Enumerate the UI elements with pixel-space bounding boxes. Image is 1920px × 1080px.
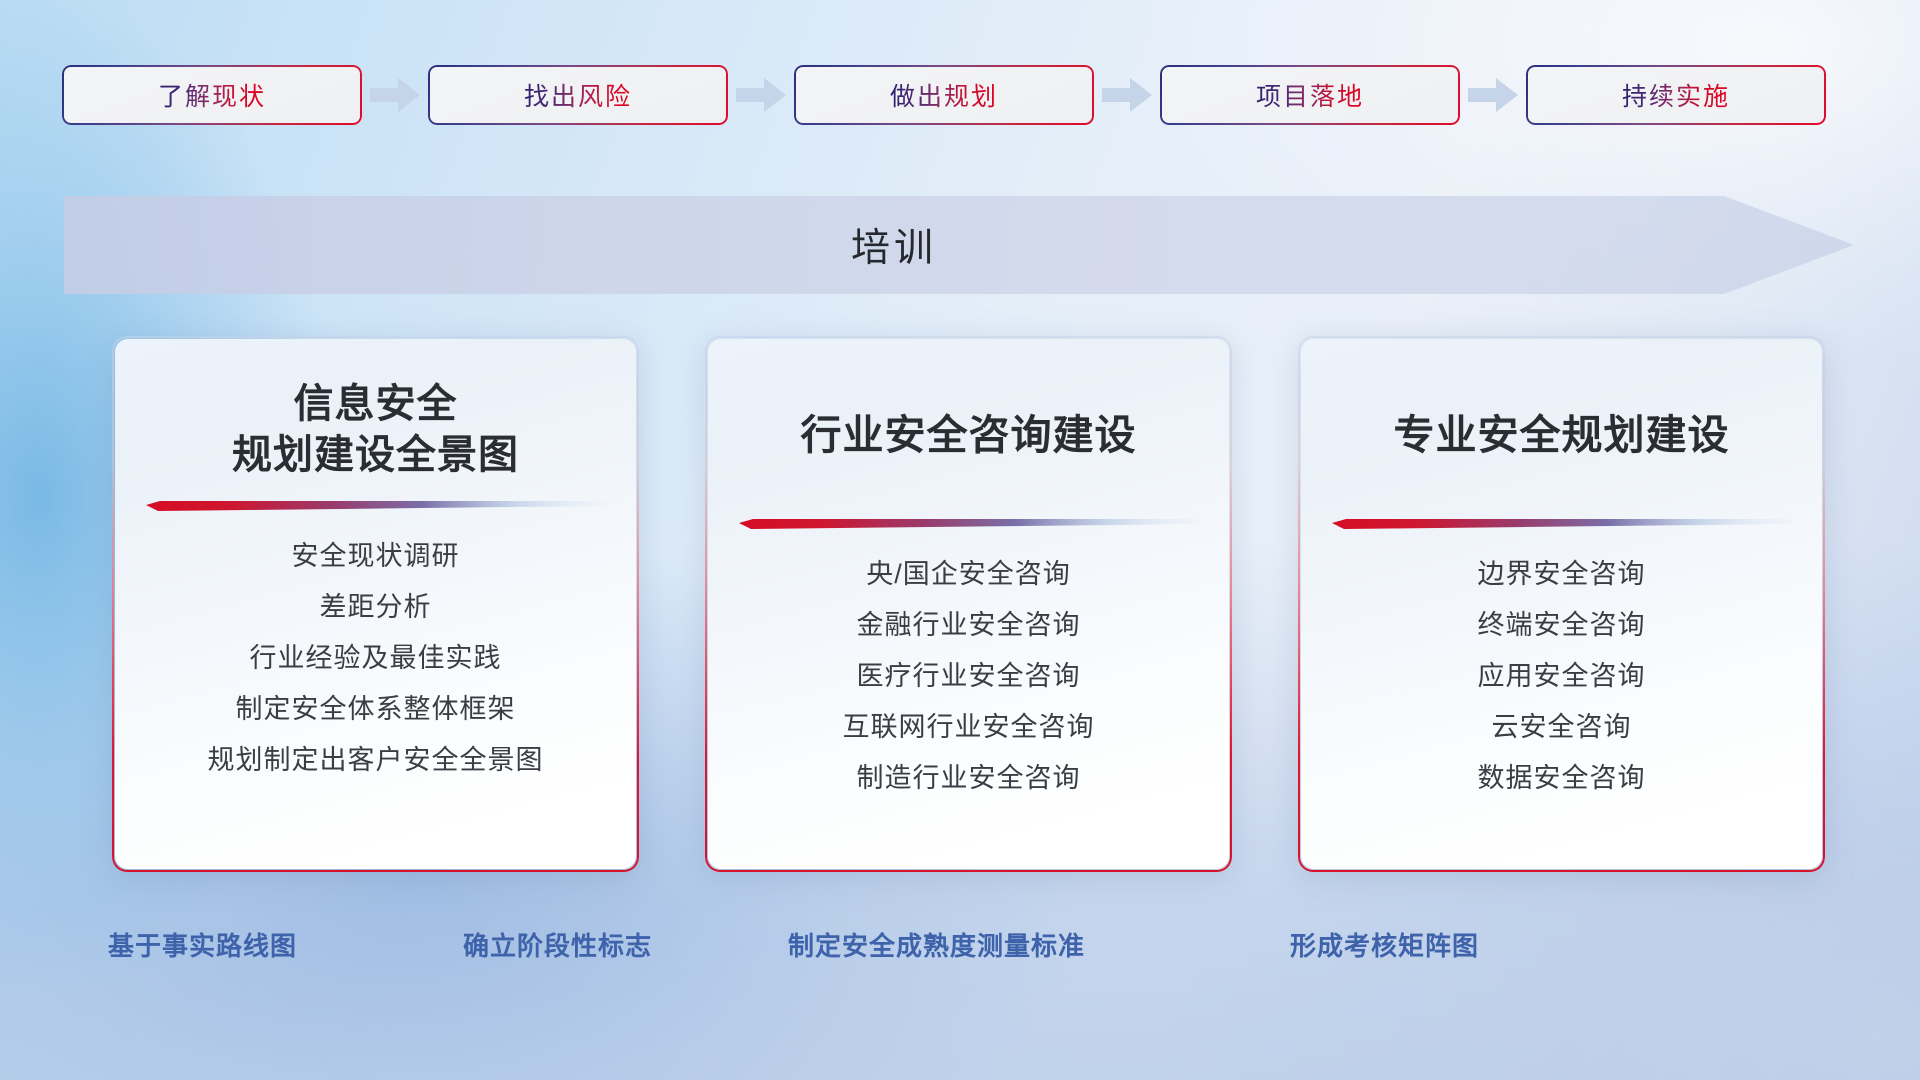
card-industry-consulting-list: 央/国企安全咨询 金融行业安全咨询 医疗行业安全咨询 互联网行业安全咨询 制造行… [708, 554, 1229, 799]
footnote-row: 基于事实路线图 确立阶段性标志 制定安全成熟度测量标准 形成考核矩阵图 [0, 926, 1920, 970]
list-item: 金融行业安全咨询 [857, 605, 1081, 647]
card-industry-consulting-divider [739, 519, 1199, 530]
list-item: 行业经验及最佳实践 [250, 638, 502, 680]
card-panorama[interactable]: 信息安全 规划建设全景图 [112, 336, 639, 872]
process-step-row: 了解现状 找出风险 做出规划 项目落地 持续实施 [0, 64, 1920, 126]
arrow-right-icon [728, 65, 794, 125]
list-item: 终端安全咨询 [1478, 605, 1646, 647]
card-professional-planning-title: 专业安全规划建设 [1301, 409, 1822, 461]
card-panorama-title-line2: 规划建设全景图 [115, 430, 636, 481]
footnote-maturity: 制定安全成熟度测量标准 [788, 926, 1085, 963]
list-item: 规划制定出客户安全全景图 [208, 740, 544, 782]
list-item: 制造行业安全咨询 [857, 758, 1081, 800]
process-step-5[interactable]: 持续实施 [1526, 65, 1826, 125]
process-step-4[interactable]: 项目落地 [1160, 65, 1460, 125]
arrow-right-icon [1460, 65, 1526, 125]
process-step-2[interactable]: 找出风险 [428, 65, 728, 125]
arrow-right-icon [1094, 65, 1160, 125]
card-industry-consulting-body: 行业安全咨询建设 [708, 339, 1229, 869]
card-panorama-list: 安全现状调研 差距分析 行业经验及最佳实践 制定安全体系整体框架 规划制定出客户… [115, 536, 636, 781]
card-row: 信息安全 规划建设全景图 [0, 336, 1920, 876]
list-item: 云安全咨询 [1492, 707, 1632, 749]
list-item: 边界安全咨询 [1478, 554, 1646, 596]
process-step-1[interactable]: 了解现状 [62, 65, 362, 125]
list-item: 应用安全咨询 [1478, 656, 1646, 698]
card-panorama-body: 信息安全 规划建设全景图 [115, 339, 636, 869]
list-item: 安全现状调研 [292, 536, 460, 578]
card-panorama-divider [146, 501, 606, 512]
card-industry-consulting-title: 行业安全咨询建设 [708, 409, 1229, 461]
process-step-4-label: 项目落地 [1256, 77, 1364, 113]
footnote-matrix: 形成考核矩阵图 [1290, 926, 1479, 963]
card-panorama-title-line1: 信息安全 [115, 379, 636, 430]
process-step-5-label: 持续实施 [1622, 77, 1730, 113]
training-banner-label-wrap: 培训 [64, 196, 1724, 294]
card-panorama-title: 信息安全 规划建设全景图 [115, 379, 636, 481]
process-step-3[interactable]: 做出规划 [794, 65, 1094, 125]
list-item: 互联网行业安全咨询 [843, 707, 1095, 749]
card-professional-planning-body: 专业安全规划建设 [1301, 339, 1822, 869]
list-item: 医疗行业安全咨询 [857, 656, 1081, 698]
footnote-roadmap: 基于事实路线图 [108, 926, 297, 963]
footnote-milestones: 确立阶段性标志 [463, 926, 652, 963]
card-professional-planning-divider [1332, 519, 1792, 530]
process-step-1-label: 了解现状 [158, 77, 266, 113]
process-step-2-label: 找出风险 [524, 77, 632, 113]
list-item: 央/国企安全咨询 [866, 554, 1071, 596]
process-step-3-label: 做出规划 [890, 77, 998, 113]
list-item: 数据安全咨询 [1478, 758, 1646, 800]
list-item: 差距分析 [320, 587, 432, 629]
card-professional-planning-list: 边界安全咨询 终端安全咨询 应用安全咨询 云安全咨询 数据安全咨询 [1301, 554, 1822, 799]
list-item: 制定安全体系整体框架 [236, 689, 516, 731]
card-professional-planning[interactable]: 专业安全规划建设 [1298, 336, 1825, 872]
card-industry-consulting[interactable]: 行业安全咨询建设 [705, 336, 1232, 872]
training-banner-label: 培训 [851, 217, 937, 273]
arrow-right-icon [362, 65, 428, 125]
training-banner: 培训 [64, 196, 1854, 294]
